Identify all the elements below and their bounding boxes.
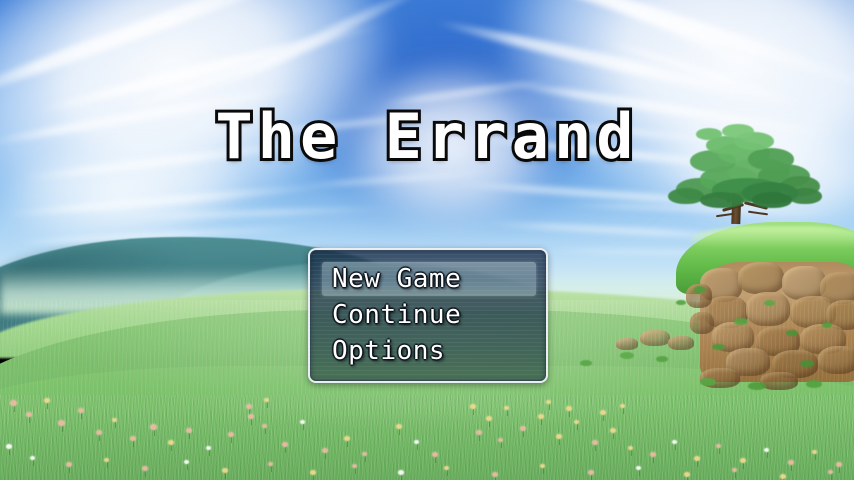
flower-27 xyxy=(504,406,509,410)
cliff-grass-highlight xyxy=(690,226,854,248)
flower-stem-43 xyxy=(697,461,698,467)
flower-30 xyxy=(556,434,562,439)
flower-stem-35 xyxy=(479,435,480,441)
tree-leaf-cluster-10 xyxy=(668,188,704,204)
flower-56 xyxy=(222,468,228,473)
flower-stem-34 xyxy=(631,450,632,456)
flower-3 xyxy=(58,420,65,426)
flower-63 xyxy=(540,464,545,468)
flower-stem-46 xyxy=(767,452,768,458)
flower-7 xyxy=(130,436,136,441)
flower-stem-36 xyxy=(501,442,502,448)
flower-48 xyxy=(812,450,817,454)
flower-stem-16 xyxy=(303,424,304,430)
menu-item-continue[interactable]: Continue xyxy=(310,297,546,333)
menu-item-new-game[interactable]: New Game xyxy=(310,261,546,297)
flower-stem-24 xyxy=(435,457,436,463)
flower-1 xyxy=(26,412,32,417)
flower-12 xyxy=(228,432,234,437)
game-title-screen: The Errand New GameContinueOptions xyxy=(0,0,854,480)
flower-41 xyxy=(650,452,656,457)
cliff-vegetation-tuft-4 xyxy=(712,344,725,350)
flower-stem-51 xyxy=(33,460,34,466)
flower-9 xyxy=(168,440,174,445)
flower-60 xyxy=(398,470,404,475)
flower-stem-2 xyxy=(47,403,48,409)
flower-0 xyxy=(10,400,17,406)
flower-5 xyxy=(96,430,102,435)
flower-42 xyxy=(672,440,677,444)
flower-23 xyxy=(414,440,419,444)
flower-stem-52 xyxy=(69,467,70,473)
flower-stem-27 xyxy=(507,410,508,416)
title-command-window: New GameContinueOptions xyxy=(308,248,548,383)
flower-stem-58 xyxy=(313,475,314,480)
flower-stem-33 xyxy=(613,433,614,439)
flower-stem-9 xyxy=(171,445,172,451)
flower-14 xyxy=(264,398,269,402)
flower-stem-63 xyxy=(543,468,544,474)
cliff-boulder-1 xyxy=(738,262,784,294)
flower-22 xyxy=(396,424,402,429)
flower-35 xyxy=(476,430,482,435)
flower-57 xyxy=(268,462,273,466)
cliff-vegetation-tuft-5 xyxy=(764,300,775,306)
cliff-vegetation-tuft-7 xyxy=(676,300,686,305)
flower-40 xyxy=(620,404,625,408)
flower-51 xyxy=(30,456,35,460)
flower-49 xyxy=(836,462,842,467)
flower-stem-19 xyxy=(365,456,366,462)
flower-stem-23 xyxy=(417,444,418,450)
flower-26 xyxy=(486,416,492,421)
command-list: New GameContinueOptions xyxy=(310,250,546,369)
flower-20 xyxy=(248,414,254,419)
flower-stem-14 xyxy=(267,402,268,408)
flower-stem-53 xyxy=(107,462,108,468)
flower-17 xyxy=(322,448,328,453)
flower-stem-64 xyxy=(591,475,592,480)
flower-stem-29 xyxy=(541,419,542,425)
cliff-vegetation-tuft-1 xyxy=(734,318,748,325)
flower-36 xyxy=(498,438,503,442)
flower-65 xyxy=(636,466,641,470)
cliff-vegetation-tuft-0 xyxy=(694,286,706,293)
flower-stem-7 xyxy=(133,441,134,447)
tree-leaf-cluster-15 xyxy=(752,192,792,208)
flower-38 xyxy=(566,406,572,411)
flower-stem-6 xyxy=(115,422,116,428)
flower-58 xyxy=(310,470,316,475)
flower-stem-57 xyxy=(271,466,272,472)
flower-stem-4 xyxy=(81,413,82,419)
flower-stem-39 xyxy=(603,415,604,421)
flower-stem-60 xyxy=(401,475,402,480)
flower-stem-44 xyxy=(719,448,720,454)
flower-66 xyxy=(684,472,690,477)
flower-stem-26 xyxy=(489,421,490,427)
flower-43 xyxy=(694,456,700,461)
flower-52 xyxy=(66,462,72,467)
flower-45 xyxy=(740,458,746,463)
flower-stem-20 xyxy=(251,419,252,425)
flower-stem-1 xyxy=(29,417,30,423)
flower-24 xyxy=(432,452,438,457)
flower-68 xyxy=(780,474,786,479)
flower-stem-42 xyxy=(675,444,676,450)
flower-47 xyxy=(788,460,794,465)
flower-stem-38 xyxy=(569,411,570,417)
flower-stem-41 xyxy=(653,457,654,463)
flower-stem-0 xyxy=(14,406,15,412)
flower-stem-59 xyxy=(355,468,356,474)
cliff-vegetation-tuft-13 xyxy=(580,360,592,366)
flower-18 xyxy=(344,436,350,441)
flower-stem-31 xyxy=(577,424,578,430)
flower-50 xyxy=(6,444,12,449)
flower-2 xyxy=(44,398,50,403)
flower-28 xyxy=(520,426,526,431)
flower-21 xyxy=(262,424,267,428)
tree-leaf-cluster-14 xyxy=(700,192,744,208)
flower-stem-67 xyxy=(735,472,736,478)
flower-stem-15 xyxy=(285,447,286,453)
flower-stem-48 xyxy=(815,454,816,460)
flower-11 xyxy=(206,446,211,450)
cliff-vegetation-tuft-2 xyxy=(786,330,798,336)
cliff-vegetation-tuft-6 xyxy=(800,360,814,367)
flower-29 xyxy=(538,414,544,419)
flower-stem-69 xyxy=(831,474,832,480)
flower-37 xyxy=(546,400,551,404)
flower-34 xyxy=(628,446,633,450)
flower-16 xyxy=(300,420,305,424)
flower-stem-22 xyxy=(399,429,400,435)
flower-8 xyxy=(150,424,157,430)
flower-stem-56 xyxy=(225,473,226,479)
flower-stem-47 xyxy=(791,465,792,471)
flower-25 xyxy=(470,404,476,409)
flower-62 xyxy=(492,472,498,477)
flower-stem-45 xyxy=(743,463,744,469)
flower-stem-17 xyxy=(325,453,326,459)
flower-stem-37 xyxy=(549,404,550,410)
flower-44 xyxy=(716,444,721,448)
flower-stem-54 xyxy=(145,471,146,477)
flower-stem-5 xyxy=(99,435,100,441)
flower-stem-40 xyxy=(623,408,624,414)
flower-stem-50 xyxy=(9,449,10,455)
flower-6 xyxy=(112,418,117,422)
flower-67 xyxy=(732,468,737,472)
flower-64 xyxy=(588,470,594,475)
flower-stem-21 xyxy=(265,428,266,434)
flower-55 xyxy=(184,460,189,464)
flower-59 xyxy=(352,464,357,468)
flower-4 xyxy=(78,408,84,413)
flower-61 xyxy=(444,466,449,470)
flower-stem-3 xyxy=(62,426,63,432)
flower-stem-8 xyxy=(154,430,155,436)
flower-19 xyxy=(362,452,367,456)
cliff-vegetation-tuft-10 xyxy=(806,380,822,388)
flower-69 xyxy=(828,470,833,474)
flower-stem-28 xyxy=(523,431,524,437)
flower-stem-30 xyxy=(559,439,560,445)
cliff-vegetation-tuft-11 xyxy=(620,352,634,359)
flower-stem-11 xyxy=(209,450,210,456)
cliff-vegetation-tuft-9 xyxy=(748,382,766,390)
flower-stem-65 xyxy=(639,470,640,476)
flower-stem-25 xyxy=(473,409,474,415)
flower-stem-61 xyxy=(447,470,448,476)
flower-stem-12 xyxy=(231,437,232,443)
flower-39 xyxy=(600,410,606,415)
flower-33 xyxy=(610,428,616,433)
flower-32 xyxy=(592,440,598,445)
flower-46 xyxy=(764,448,769,452)
flower-13 xyxy=(246,404,252,409)
game-title: The Errand xyxy=(0,104,854,169)
flower-stem-32 xyxy=(595,445,596,451)
cliff-vegetation-tuft-12 xyxy=(656,356,668,362)
flower-15 xyxy=(282,442,288,447)
flower-53 xyxy=(104,458,109,462)
flower-stem-55 xyxy=(187,464,188,470)
flower-stem-49 xyxy=(839,467,840,473)
flower-54 xyxy=(142,466,148,471)
flower-10 xyxy=(186,428,192,433)
cliff-vegetation-tuft-3 xyxy=(822,322,832,328)
flower-stem-10 xyxy=(189,433,190,439)
menu-item-options[interactable]: Options xyxy=(310,333,546,369)
flower-31 xyxy=(574,420,579,424)
cliff-vegetation-tuft-8 xyxy=(700,378,716,386)
flower-stem-18 xyxy=(347,441,348,447)
